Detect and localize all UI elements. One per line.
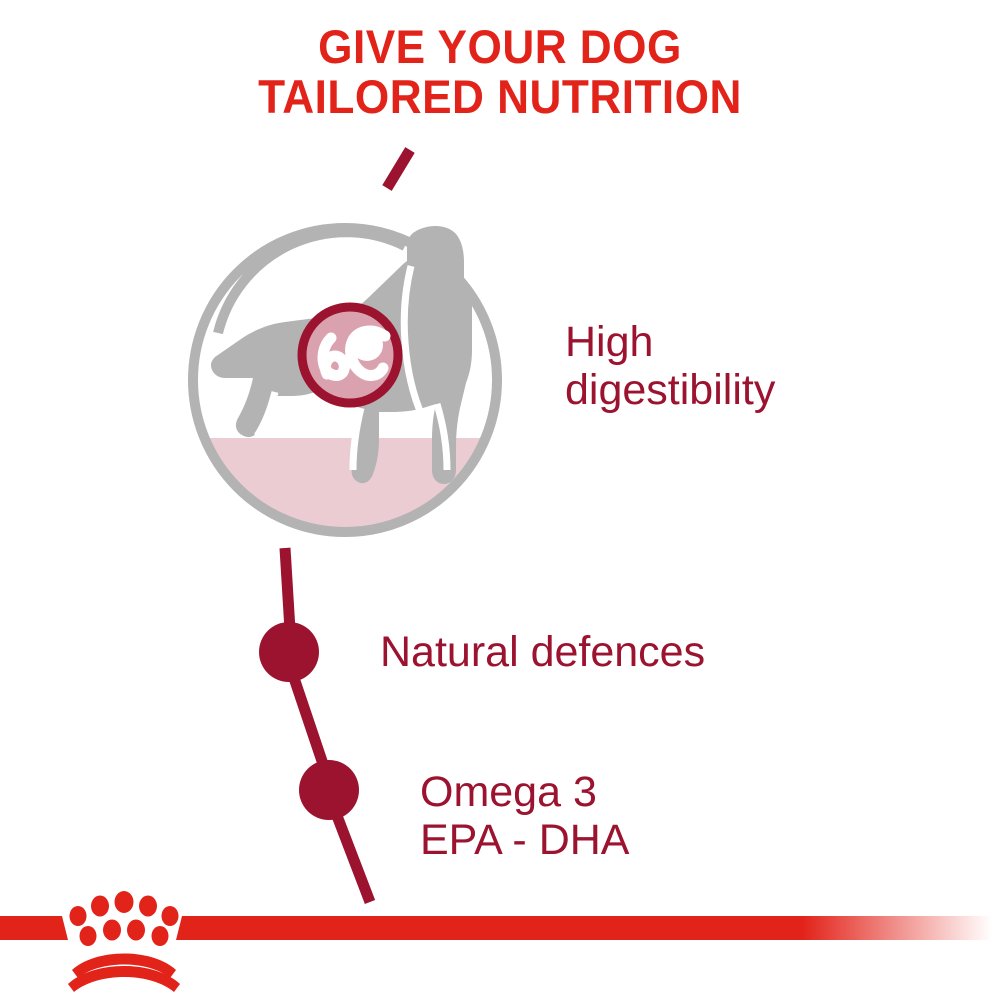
connector-line [285, 548, 370, 902]
brand-footer [0, 890, 1000, 1000]
stomach-intestine-icon [302, 307, 398, 403]
royal-canin-crown-icon [68, 891, 180, 992]
page-title: GIVE YOUR DOG TAILORED NUTRITION [30, 22, 970, 122]
bullet-dot-natural-defences [259, 622, 319, 682]
bullet-dot-omega-3 [299, 760, 359, 820]
feature-connector [230, 520, 450, 940]
product-feature-panel: GIVE YOUR DOG TAILORED NUTRITION [0, 0, 1000, 1000]
page-title-line-2: TAILORED NUTRITION [30, 72, 970, 122]
page-title-line-1: GIVE YOUR DOG [30, 22, 970, 72]
diagonal-tick-icon [387, 150, 410, 188]
feature-label-high-digestibility: High digestibility [565, 318, 775, 414]
dog-digestibility-illustration [155, 140, 555, 560]
footer-bar-left [0, 916, 68, 940]
feature-label-omega-3-epa-dha: Omega 3 EPA - DHA [420, 768, 629, 864]
footer-bar-right [176, 916, 1000, 940]
